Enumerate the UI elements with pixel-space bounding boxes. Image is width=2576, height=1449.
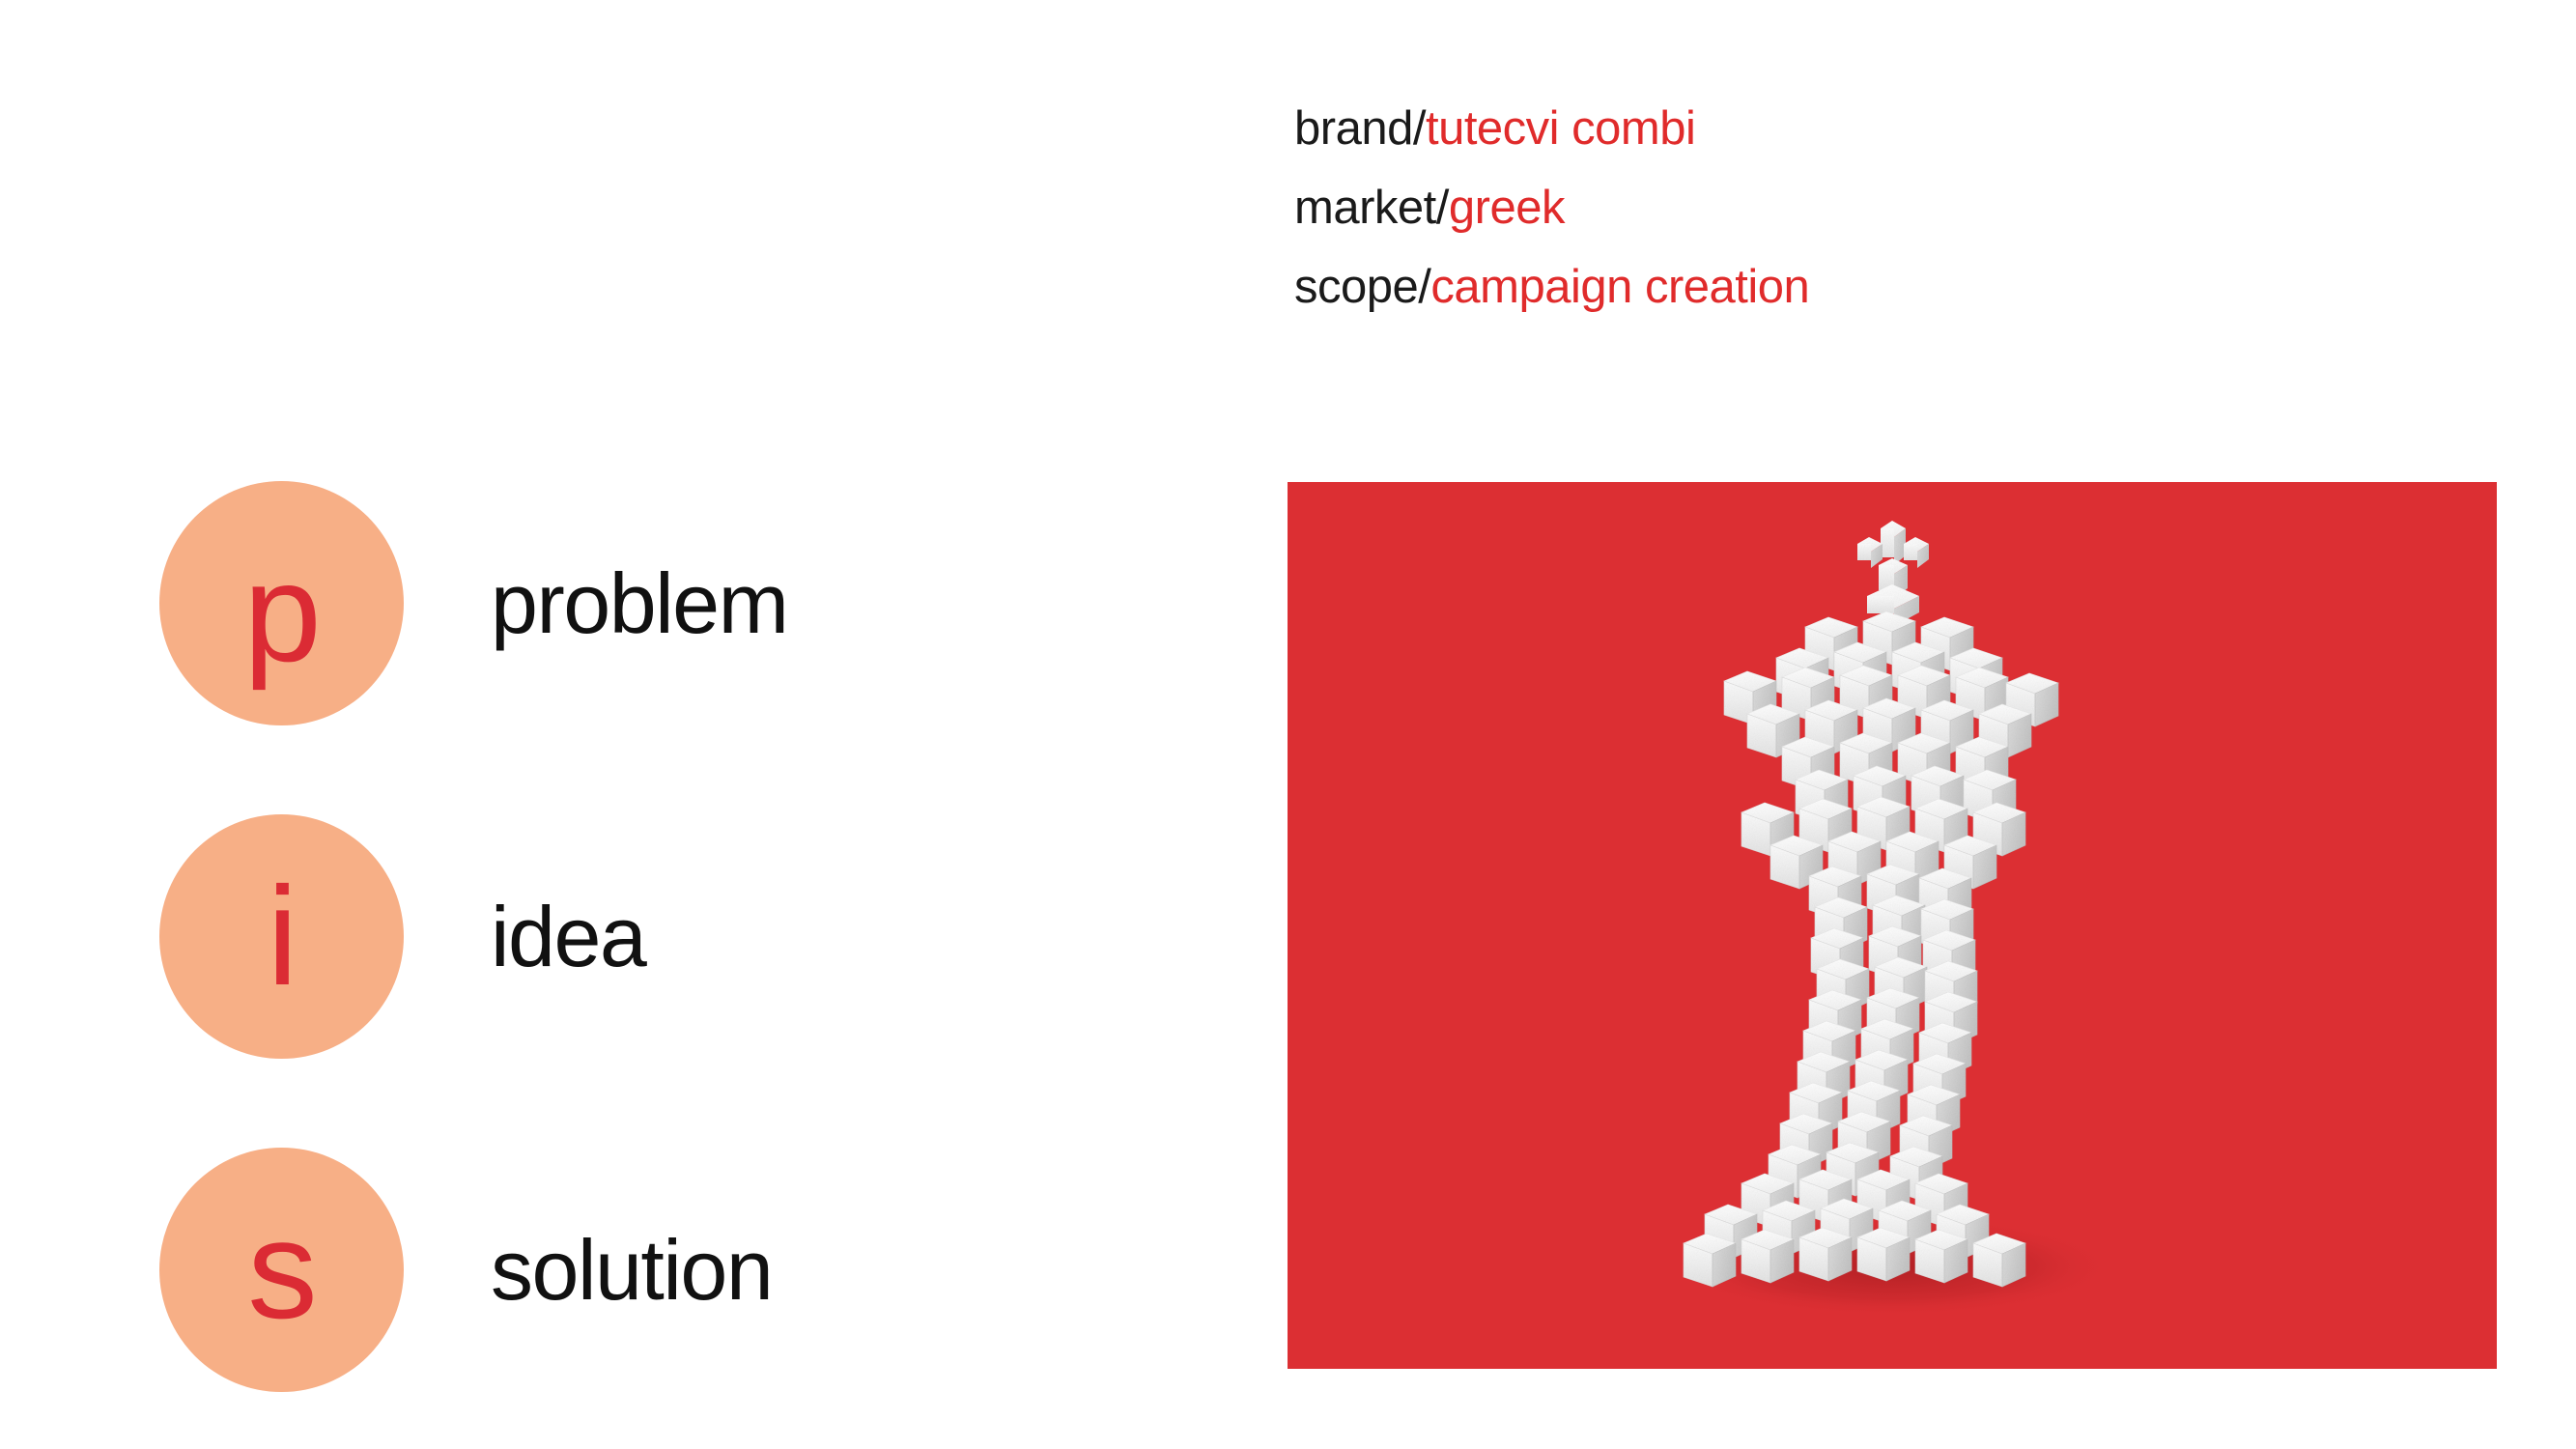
king-column bbox=[1769, 865, 1977, 1200]
meta-key-market: market bbox=[1294, 182, 1436, 234]
list-item-solution: s solution bbox=[0, 1145, 1062, 1396]
list-item-label-problem: problem bbox=[491, 561, 787, 646]
sugar-cube-chess-king-image bbox=[1288, 482, 2497, 1369]
meta-line-brand: brand/tutecvi combi bbox=[1294, 89, 1809, 168]
meta-separator-scope: / bbox=[1418, 261, 1430, 313]
campaign-visual-panel bbox=[1288, 482, 2497, 1369]
king-cross-finial bbox=[1857, 521, 1929, 626]
meta-line-market: market/greek bbox=[1294, 168, 1809, 247]
badge-letter-idea: i bbox=[267, 867, 296, 1007]
badge-letter-problem: p bbox=[243, 543, 320, 683]
meta-separator-market: / bbox=[1436, 182, 1449, 234]
badge-circle-idea: i bbox=[159, 814, 404, 1059]
list-item-problem: p problem bbox=[0, 478, 1062, 729]
framework-list: p problem i idea s solution bbox=[0, 0, 1062, 1449]
sugar-cube-stack bbox=[1684, 521, 2058, 1287]
meta-value-market: greek bbox=[1449, 182, 1565, 234]
meta-separator-brand: / bbox=[1413, 102, 1426, 155]
meta-line-scope: scope/campaign creation bbox=[1294, 247, 1809, 327]
badge-circle-solution: s bbox=[159, 1148, 404, 1392]
king-crown bbox=[1724, 611, 2058, 757]
badge-letter-solution: s bbox=[247, 1200, 316, 1340]
brief-meta-block: brand/tutecvi combi market/greek scope/c… bbox=[1294, 89, 1809, 327]
list-item-idea: i idea bbox=[0, 811, 1062, 1063]
list-item-label-solution: solution bbox=[491, 1228, 772, 1313]
meta-key-scope: scope bbox=[1294, 261, 1418, 313]
list-item-label-idea: idea bbox=[491, 895, 645, 980]
badge-circle-problem: p bbox=[159, 481, 404, 725]
meta-value-brand: tutecvi combi bbox=[1426, 102, 1695, 155]
meta-key-brand: brand bbox=[1294, 102, 1413, 155]
meta-value-scope: campaign creation bbox=[1430, 261, 1809, 313]
